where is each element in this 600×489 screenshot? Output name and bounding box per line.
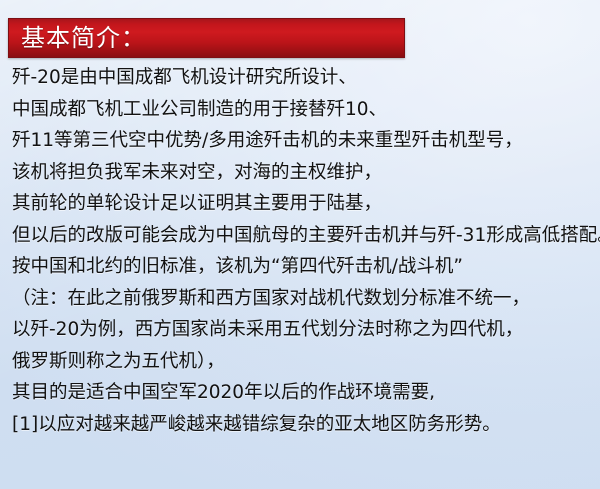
text-line: （注：在此之前俄罗斯和西方国家对战机代数划分标准不统一， <box>12 283 598 315</box>
text-line: 歼-20是由中国成都飞机设计研究所设计、 <box>12 62 598 94</box>
section-title-banner: 基本简介： <box>8 18 405 58</box>
text-line: 其目的是适合中国空军2020年以后的作战环境需要, <box>12 377 598 409</box>
text-line: 歼11等第三代空中优势/多用途歼击机的未来重型歼击机型号， <box>12 125 598 157</box>
text-line: 其前轮的单轮设计足以证明其主要用于陆基， <box>12 188 598 220</box>
text-line: [1]以应对越来越严峻越来越错综复杂的亚太地区防务形势。 <box>12 409 598 441</box>
text-line: 按中国和北约的旧标准，该机为“第四代歼击机/战斗机” <box>12 251 598 283</box>
text-line: 以歼-20为例，西方国家尚未采用五代划分法时称之为四代机， <box>12 314 598 346</box>
slide-canvas: 基本简介： 歼-20是由中国成都飞机设计研究所设计、 中国成都飞机工业公司制造的… <box>0 0 600 489</box>
page-title: 基本简介： <box>21 26 146 50</box>
body-text-block: 歼-20是由中国成都飞机设计研究所设计、 中国成都飞机工业公司制造的用于接替歼1… <box>12 62 598 440</box>
text-line: 但以后的改版可能会成为中国航母的主要歼击机并与歼-31形成高低搭配。 <box>12 220 598 252</box>
text-line: 俄罗斯则称之为五代机）， <box>12 346 598 378</box>
text-line: 中国成都飞机工业公司制造的用于接替歼10、 <box>12 94 598 126</box>
text-line: 该机将担负我军未来对空，对海的主权维护， <box>12 157 598 189</box>
